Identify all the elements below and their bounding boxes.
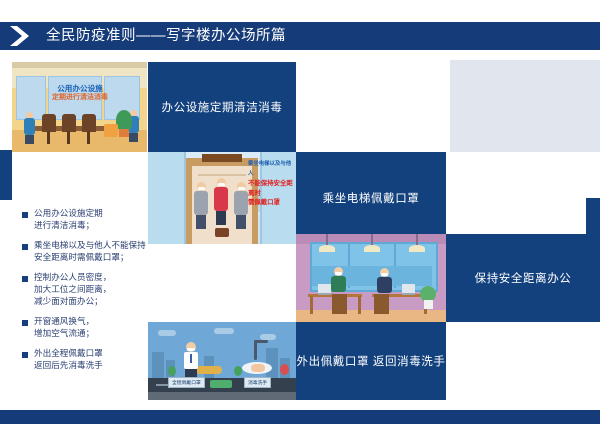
pendant-lamp-shade: [409, 245, 425, 252]
plant-pot: [424, 300, 433, 309]
overlay-line-2: 不能保持安全距离时: [248, 179, 296, 198]
faucet-arm: [254, 340, 268, 343]
overlay-line-1: 公用办公设施: [34, 84, 126, 93]
list-item: 公用办公设施定期 进行清洁消毒；: [22, 208, 167, 231]
bus: [210, 380, 232, 388]
bullet-square-icon: [22, 320, 28, 326]
caption-wear-mask: 全程佩戴口罩: [168, 377, 205, 388]
torso: [234, 191, 248, 215]
bullet-square-icon: [22, 352, 28, 358]
list-item: 开窗通风换气， 增加空气流通；: [22, 316, 167, 339]
face-mask-icon: [335, 272, 342, 275]
face-mask-icon: [381, 273, 388, 276]
torso: [214, 187, 228, 211]
overlay-line-2: 定期进行清洁消毒: [34, 93, 126, 102]
car: [196, 366, 222, 374]
washing-hands: [251, 364, 265, 372]
decor-strip-left: [0, 150, 12, 200]
legs: [236, 215, 246, 229]
plant-pot: [119, 129, 129, 137]
skyline: [312, 266, 432, 286]
chair: [42, 114, 56, 132]
placeholder-block-top-right: [450, 60, 600, 152]
desk-leg: [310, 296, 313, 314]
legs: [25, 135, 34, 144]
worker-right: [380, 268, 392, 293]
potted-plant: [116, 110, 132, 130]
list-item-text: 外出全程佩戴口罩 返回后先消毒洗手: [34, 348, 103, 371]
list-item: 乘坐电梯以及与他人不能保持 安全距离时需佩戴口罩；: [22, 240, 167, 263]
face-mask-icon: [187, 348, 195, 352]
label-panel-outdoor-mask[interactable]: 外出佩戴口罩 返回消毒洗手: [296, 322, 446, 400]
illustration-meeting-room: 公用办公设施 定期进行清洁消毒: [12, 62, 147, 152]
torso: [194, 191, 208, 215]
cloud: [214, 328, 234, 334]
bullet-square-icon: [22, 212, 28, 218]
masked-pedestrian: [184, 342, 198, 381]
face-mask-icon: [198, 187, 205, 190]
chair: [62, 114, 76, 132]
guidelines-list: 公用办公设施定期 进行清洁消毒； 乘坐电梯以及与他人不能保持 安全距离时需佩戴口…: [22, 208, 167, 381]
worker-left: [334, 267, 346, 292]
overlay-line-3: 需佩戴口罩: [248, 198, 296, 208]
illustration-elevator: 乘坐电梯以及与他人 不能保持安全距离时 需佩戴口罩: [148, 152, 296, 244]
torso: [377, 277, 392, 293]
list-item-text: 控制办公人员密度， 加大工位之间距离， 减少面对面办公；: [34, 272, 111, 307]
list-item: 控制办公人员密度， 加大工位之间距离， 减少面对面办公；: [22, 272, 167, 307]
slide-canvas: 全民防疫准则——写字楼办公场所篇 公用办公设施 定期进行清洁: [0, 0, 600, 424]
title-bar: 全民防疫准则——写字楼办公场所篇: [0, 22, 600, 50]
briefcase: [215, 228, 229, 237]
cleaning-cart: [104, 124, 118, 137]
face-mask-icon: [238, 187, 245, 190]
pendant-lamp-shade: [364, 245, 380, 252]
chevron-right-icon: [8, 25, 42, 47]
legs: [129, 133, 138, 142]
panel-label: 外出佩戴口罩 返回消毒洗手: [297, 353, 446, 369]
tree-red: [280, 364, 289, 375]
faucet-pipe: [254, 340, 257, 360]
footer-bar: [0, 410, 600, 424]
illustration-overlay-text: 公用办公设施 定期进行清洁消毒: [34, 84, 126, 102]
necktie: [190, 354, 192, 363]
label-panel-safe-distance[interactable]: 保持安全距离办公: [446, 234, 600, 322]
illustration-street: 全程佩戴口罩 消毒洗手: [148, 322, 296, 400]
lane-marking: [156, 384, 168, 386]
tree: [234, 366, 242, 376]
chair-left: [332, 294, 347, 314]
face-mask-icon: [218, 183, 225, 186]
chair: [82, 114, 96, 132]
sidewalk: [148, 392, 296, 400]
list-item-text: 乘坐电梯以及与他人不能保持 安全距离时需佩戴口罩；: [34, 240, 146, 263]
cabin-rail: [198, 174, 246, 176]
legs: [216, 211, 226, 225]
label-panel-elevator-mask[interactable]: 乘坐电梯佩戴口罩: [296, 152, 446, 244]
pendant-lamp-shade: [319, 245, 335, 252]
overlay-line-1: 乘坐电梯以及与他人: [248, 160, 296, 179]
panel-label: 办公设施定期清洁消毒: [162, 99, 283, 115]
decor-strip-right: [586, 198, 600, 238]
torso: [24, 118, 35, 135]
desk-leg: [358, 296, 361, 314]
room-ceiling: [12, 62, 147, 68]
elevator-lintel: [202, 154, 242, 162]
passenger-left: [194, 182, 208, 229]
list-item: 外出全程佩戴口罩 返回后先消毒洗手: [22, 348, 167, 371]
label-panel-office-disinfection[interactable]: 办公设施定期清洁消毒: [148, 62, 296, 152]
tree: [168, 366, 176, 376]
cleaner-left: [26, 112, 35, 144]
list-item-text: 开窗通风换气， 增加空气流通；: [34, 316, 94, 339]
laptop-right: [402, 284, 415, 295]
list-item-text: 公用办公设施定期 进行清洁消毒；: [34, 208, 103, 231]
bullet-square-icon: [22, 244, 28, 250]
caption-wash-hands: 消毒洗手: [244, 377, 271, 388]
panel-label: 乘坐电梯佩戴口罩: [323, 190, 420, 206]
passenger-right: [234, 182, 248, 229]
laptop-left: [318, 284, 331, 295]
legs: [196, 215, 206, 229]
passenger-center: [214, 178, 228, 225]
illustration-overlay-text: 乘坐电梯以及与他人 不能保持安全距离时 需佩戴口罩: [248, 160, 296, 208]
torso: [331, 276, 346, 292]
chair-right: [374, 294, 389, 314]
bullet-square-icon: [22, 276, 28, 282]
illustration-office-desks: [296, 234, 446, 322]
panel-label: 保持安全距离办公: [475, 270, 572, 286]
page-title: 全民防疫准则——写字楼办公场所篇: [46, 22, 286, 50]
